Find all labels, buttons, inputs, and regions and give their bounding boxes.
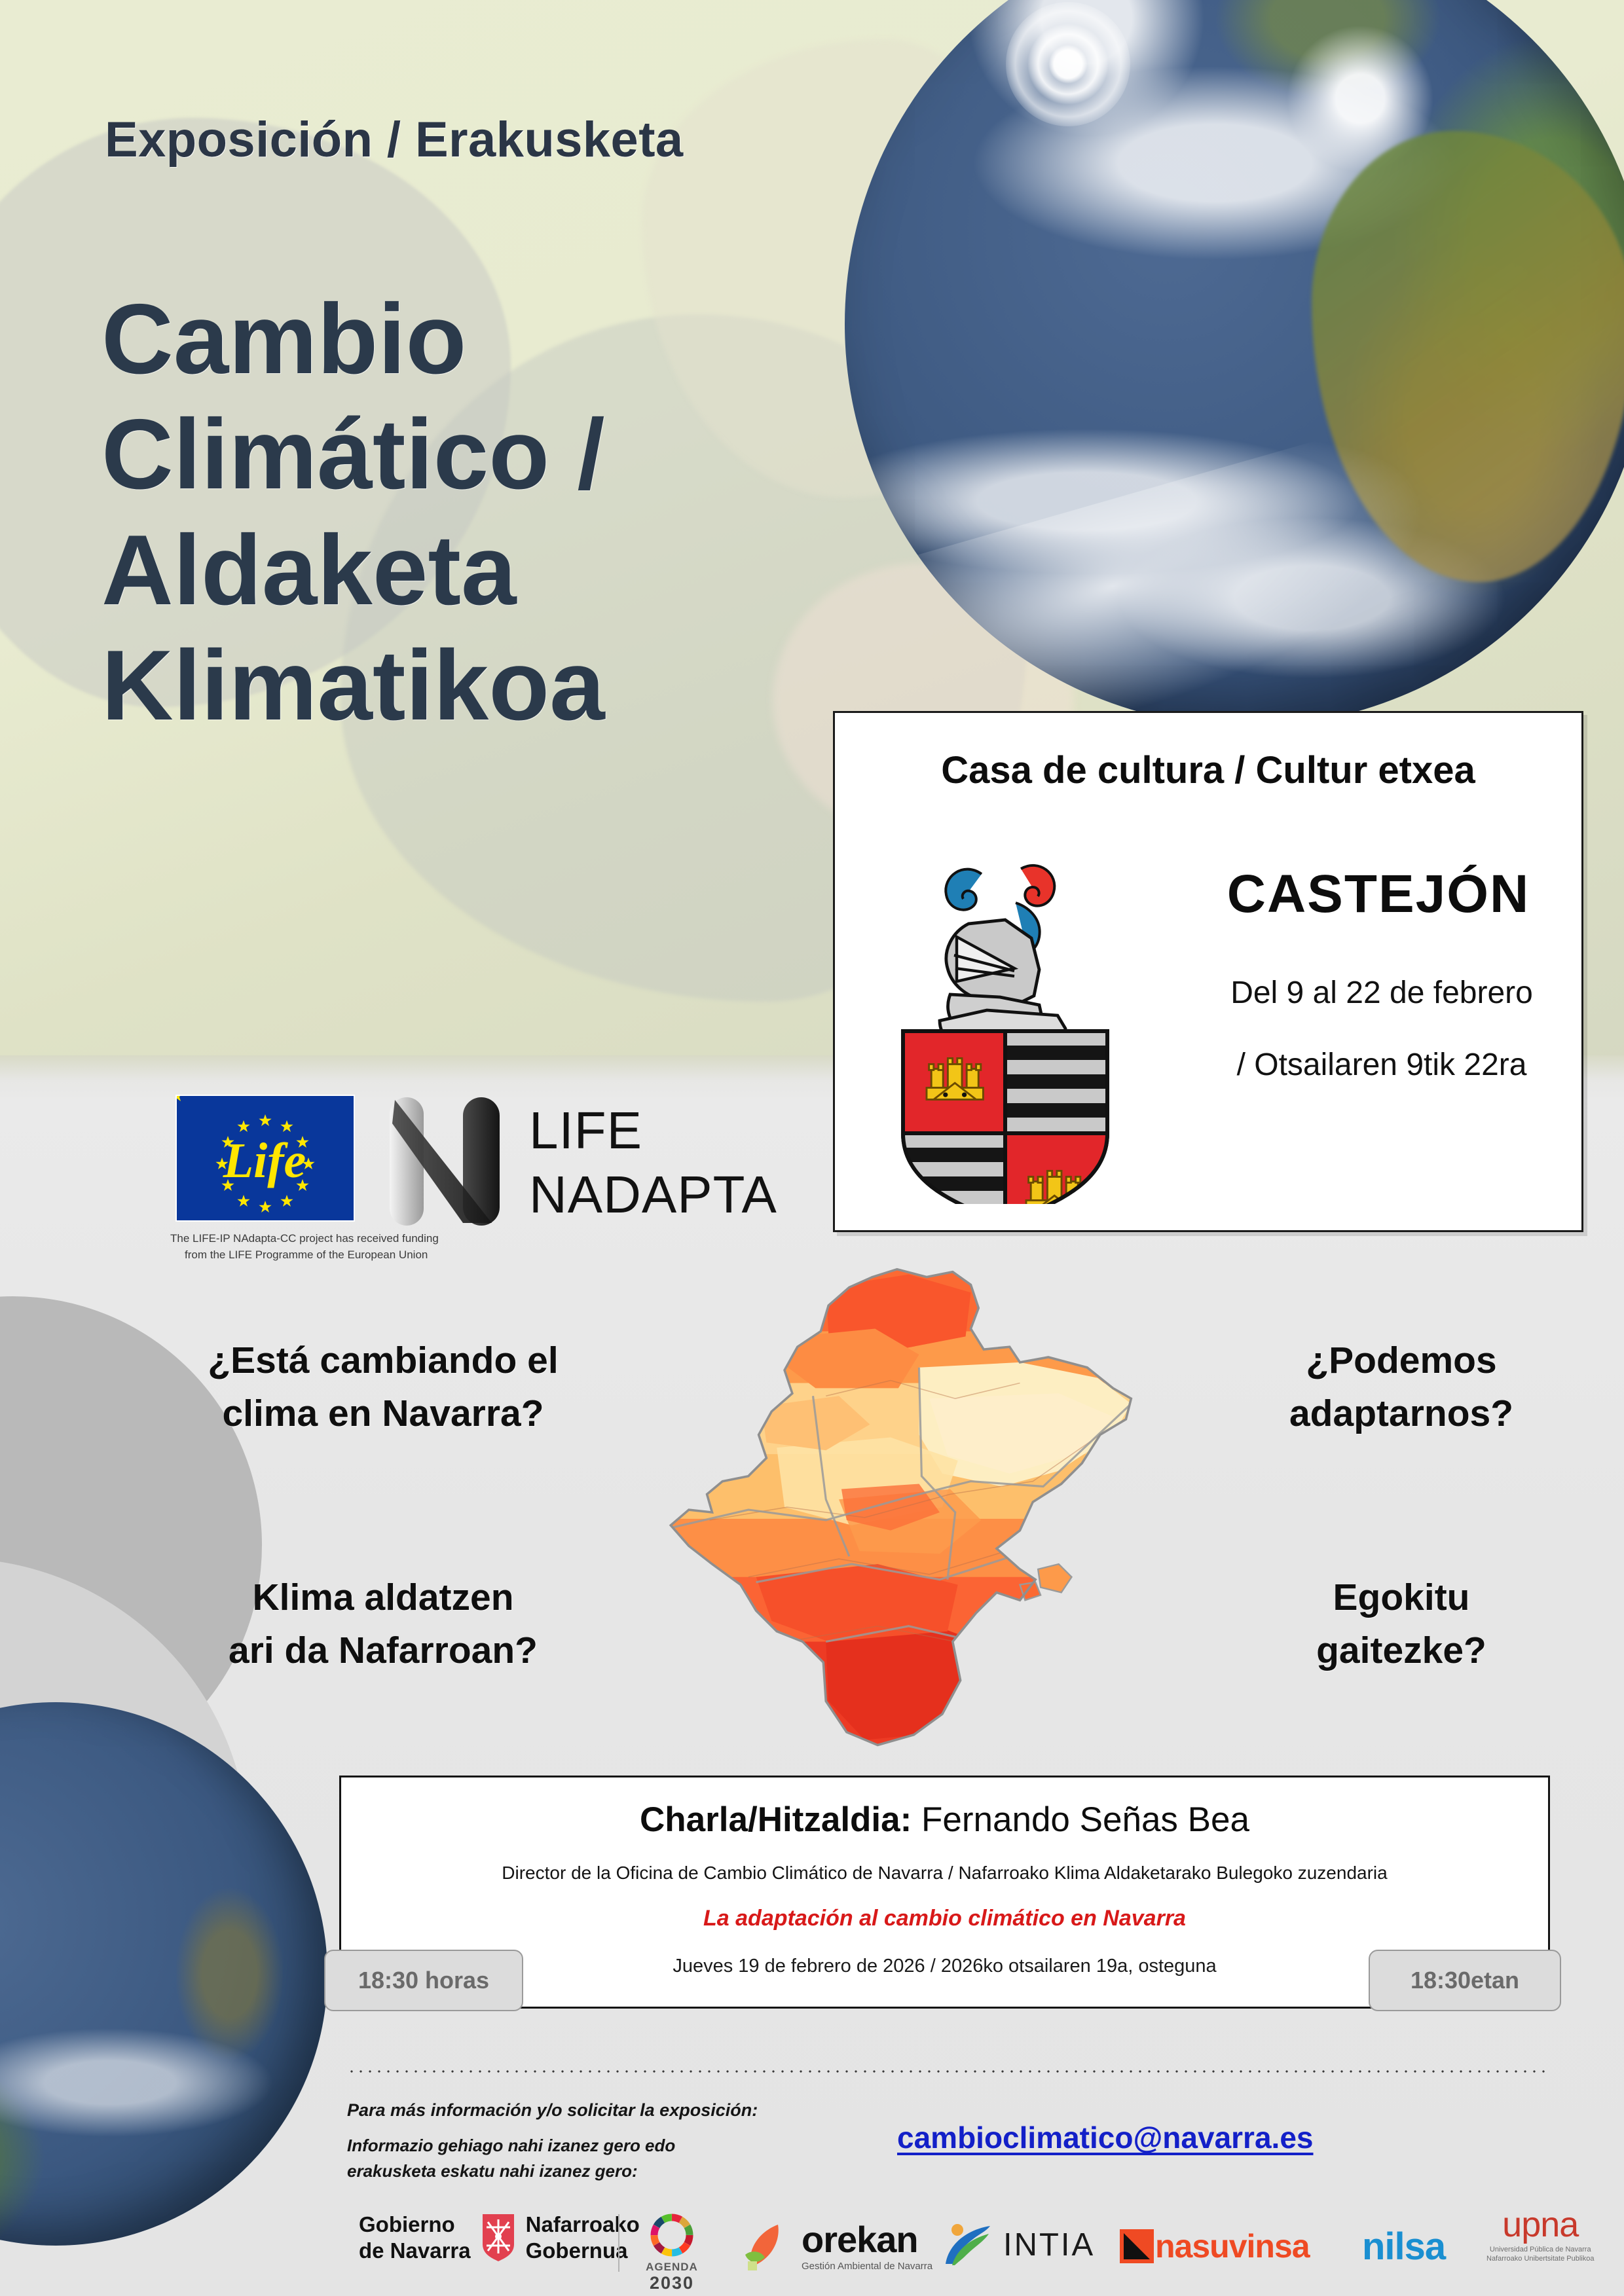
question-line: gaitezke? <box>1205 1624 1598 1677</box>
orekan-logo: orekan Gestión Ambiental de Navarra <box>740 2218 932 2274</box>
upna-name: upna <box>1486 2209 1594 2241</box>
venue-date-eu: / Otsailaren 9tik 22ra <box>1189 1047 1575 1083</box>
upna-tagline: Universidad Pública de Navarra Nafarroak… <box>1486 2245 1594 2264</box>
life-funding-note: The LIFE-IP NAdapta-CC project has recei… <box>170 1231 589 1263</box>
upna-logo: upna Universidad Pública de Navarra Nafa… <box>1486 2209 1594 2263</box>
life-funding-line: The LIFE-IP NAdapta-CC project has recei… <box>170 1231 589 1247</box>
page-title: Cambio Climático / Aldaketa Klimatikoa <box>101 282 605 743</box>
gov-line: de Navarra <box>359 2238 471 2264</box>
footer-divider <box>618 2214 619 2272</box>
question-line: ari da Nafarroan? <box>154 1624 612 1677</box>
gobierno-de-navarra-logo: Gobierno de Navarra Nafarroako Gobernua <box>359 2212 640 2263</box>
venue-date-es: Del 9 al 22 de febrero <box>1189 975 1575 1011</box>
upna-tagline-line: Nafarroako Unibertsitate Publikoa <box>1486 2254 1594 2263</box>
question-line: adaptarnos? <box>1205 1387 1598 1440</box>
footer-logo-bar: Gobierno de Navarra Nafarroako Gobernua <box>0 2205 1624 2296</box>
gov-text-eu: Nafarroako Gobernua <box>526 2212 640 2263</box>
intia-arc-icon <box>943 2221 997 2269</box>
question-es-right: ¿Podemos adaptarnos? <box>1205 1334 1598 1440</box>
nasuvinsa-name: nasuvinsa <box>1155 2227 1310 2265</box>
agenda-text: AGENDA 2030 <box>633 2261 711 2293</box>
dotted-divider <box>347 2069 1545 2074</box>
life-funding-line: from the LIFE Programme of the European … <box>185 1247 589 1264</box>
nadapta-n-icon <box>382 1092 513 1231</box>
orekan-name: orekan <box>802 2221 932 2258</box>
talk-label: Charla/Hitzaldia: <box>640 1800 912 1839</box>
agenda-label: AGENDA <box>633 2261 711 2274</box>
page-kicker: Exposición / Erakusketa <box>105 111 684 168</box>
page-title-line: Climático / <box>101 397 605 512</box>
contact-note-eu: Informazio gehiago nahi izanez gero edo … <box>347 2133 845 2184</box>
talk-speaker: Fernando Señas Bea <box>921 1800 1249 1839</box>
contact-note-es: Para más información y/o solicitar la ex… <box>347 2100 845 2121</box>
intia-name: INTIA <box>1003 2227 1095 2263</box>
venue-heading: Casa de cultura / Cultur etxea <box>835 748 1581 792</box>
page-title-line: Cambio <box>101 282 605 397</box>
question-eu-left: Klima aldatzen ari da Nafarroan? <box>154 1571 612 1677</box>
upna-tagline-line: Universidad Pública de Navarra <box>1486 2245 1594 2254</box>
intia-logo: INTIA <box>943 2221 1095 2269</box>
question-line: ¿Podemos <box>1205 1334 1598 1387</box>
page-title-line: Aldaketa <box>101 513 605 628</box>
life-nadapta-wordmark: LIFE NADAPTA <box>529 1099 777 1226</box>
navarra-shield-icon <box>480 2213 517 2263</box>
navarra-climate-map <box>632 1254 1149 1771</box>
contact-note-eu-line: erakusketa eskatu nahi izanez gero: <box>347 2159 845 2184</box>
contact-email-link[interactable]: cambioclimatico@navarra.es <box>897 2120 1486 2155</box>
agenda-year: 2030 <box>633 2274 711 2293</box>
earth-globe-image-top-right <box>845 0 1624 727</box>
talk-speaker-role: Director de la Oficina de Cambio Climáti… <box>341 1863 1548 1884</box>
question-line: clima en Navarra? <box>154 1387 612 1440</box>
talk-time-badge-es: 18:30 horas <box>324 1950 523 2011</box>
talk-time-badge-eu: 18:30etan <box>1369 1950 1561 2011</box>
nasuvinsa-logo: nasuvinsa <box>1120 2227 1310 2265</box>
eu-life-flag-icon: Life <box>175 1095 355 1222</box>
nadapta-word: NADAPTA <box>529 1163 777 1227</box>
nilsa-name: nilsa <box>1362 2225 1445 2269</box>
contact-note-eu-line: Informazio gehiago nahi izanez gero edo <box>347 2133 845 2159</box>
question-eu-right: Egokitu gaitezke? <box>1205 1571 1598 1677</box>
hurricane-cloud-icon <box>1006 2 1130 126</box>
nilsa-logo: nilsa <box>1362 2225 1445 2269</box>
gov-line: Nafarroako <box>526 2212 640 2238</box>
talk-headline: Charla/Hitzaldia: Fernando Señas Bea <box>341 1800 1548 1840</box>
question-line: Egokitu <box>1205 1571 1598 1624</box>
gov-text-es: Gobierno de Navarra <box>359 2212 471 2263</box>
polar-cloud-band <box>845 416 1457 727</box>
gov-line: Gobierno <box>359 2212 471 2238</box>
question-line: Klima aldatzen <box>154 1571 612 1624</box>
orekan-tagline: Gestión Ambiental de Navarra <box>802 2261 932 2272</box>
orekan-leaf-icon <box>740 2218 796 2274</box>
question-line: ¿Está cambiando el <box>154 1334 612 1387</box>
castejon-coat-of-arms-icon <box>874 811 1136 1204</box>
talk-topic: La adaptación al cambio climático en Nav… <box>341 1906 1548 1931</box>
page-title-line: Klimatikoa <box>101 628 605 743</box>
nasuvinsa-square-icon <box>1120 2229 1154 2263</box>
sdg-wheel-icon <box>642 2209 702 2261</box>
life-nadapta-logo-block: Life LIFE NADAPTA <box>175 1095 804 1265</box>
venue-card: Casa de cultura / Cultur etxea <box>833 711 1583 1232</box>
agenda-2030-logo: AGENDA 2030 <box>633 2209 711 2293</box>
life-word: LIFE <box>529 1099 777 1163</box>
poster-canvas: Exposición / Erakusketa Cambio Climático… <box>0 0 1624 2296</box>
gov-line: Gobernua <box>526 2238 640 2264</box>
svg-text:Life: Life <box>223 1133 306 1188</box>
question-es-left: ¿Está cambiando el clima en Navarra? <box>154 1334 612 1440</box>
venue-city: CASTEJÓN <box>1189 864 1568 925</box>
